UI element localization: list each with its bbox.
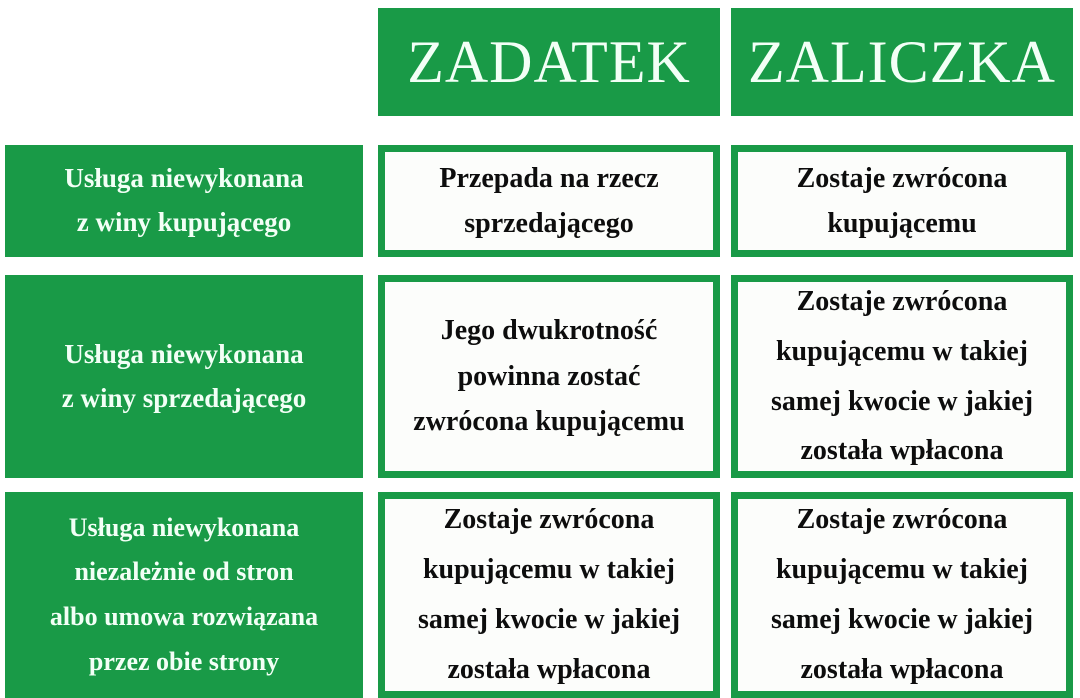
cell-zadatek-wina-kupujacego-text: Przepada na rzeczsprzedającego (385, 156, 713, 247)
column-header-zaliczka: ZALICZKA (731, 8, 1073, 116)
column-header-zaliczka-label: ZALICZKA (731, 32, 1073, 92)
cell-zadatek-niezaleznie-od-stron-text: Zostaje zwróconakupującemu w takiejsamej… (385, 495, 713, 694)
comparison-table: ZADATEK ZALICZKA Usługa niewykonanaz win… (0, 0, 1080, 698)
column-header-zadatek: ZADATEK (378, 8, 720, 116)
column-header-zadatek-label: ZADATEK (378, 32, 720, 92)
row-header-wina-sprzedajacego-label: Usługa niewykonanaz winy sprzedającego (5, 333, 363, 420)
row-header-wina-sprzedajacego: Usługa niewykonanaz winy sprzedającego (5, 275, 363, 478)
cell-zaliczka-niezaleznie-od-stron-text: Zostaje zwróconakupującemu w takiejsamej… (738, 495, 1066, 694)
cell-zadatek-wina-kupujacego: Przepada na rzeczsprzedającego (378, 145, 720, 257)
cell-zadatek-niezaleznie-od-stron: Zostaje zwróconakupującemu w takiejsamej… (378, 492, 720, 698)
row-header-niezaleznie-od-stron: Usługa niewykonananiezależnie od stronal… (5, 492, 363, 698)
cell-zaliczka-niezaleznie-od-stron: Zostaje zwróconakupującemu w takiejsamej… (731, 492, 1073, 698)
cell-zaliczka-wina-kupujacego-text: Zostaje zwróconakupującemu (738, 156, 1066, 247)
cell-zaliczka-wina-kupujacego: Zostaje zwróconakupującemu (731, 145, 1073, 257)
cell-zadatek-wina-sprzedajacego: Jego dwukrotnośćpowinna zostaćzwrócona k… (378, 275, 720, 478)
row-header-wina-kupujacego-label: Usługa niewykonanaz winy kupującego (5, 157, 363, 244)
row-header-wina-kupujacego: Usługa niewykonanaz winy kupującego (5, 145, 363, 257)
row-header-niezaleznie-od-stron-label: Usługa niewykonananiezależnie od stronal… (5, 506, 363, 685)
cell-zaliczka-wina-sprzedajacego-text: Zostaje zwróconakupującemu w takiejsamej… (738, 277, 1066, 476)
cell-zadatek-wina-sprzedajacego-text: Jego dwukrotnośćpowinna zostaćzwrócona k… (385, 308, 713, 444)
cell-zaliczka-wina-sprzedajacego: Zostaje zwróconakupującemu w takiejsamej… (731, 275, 1073, 478)
